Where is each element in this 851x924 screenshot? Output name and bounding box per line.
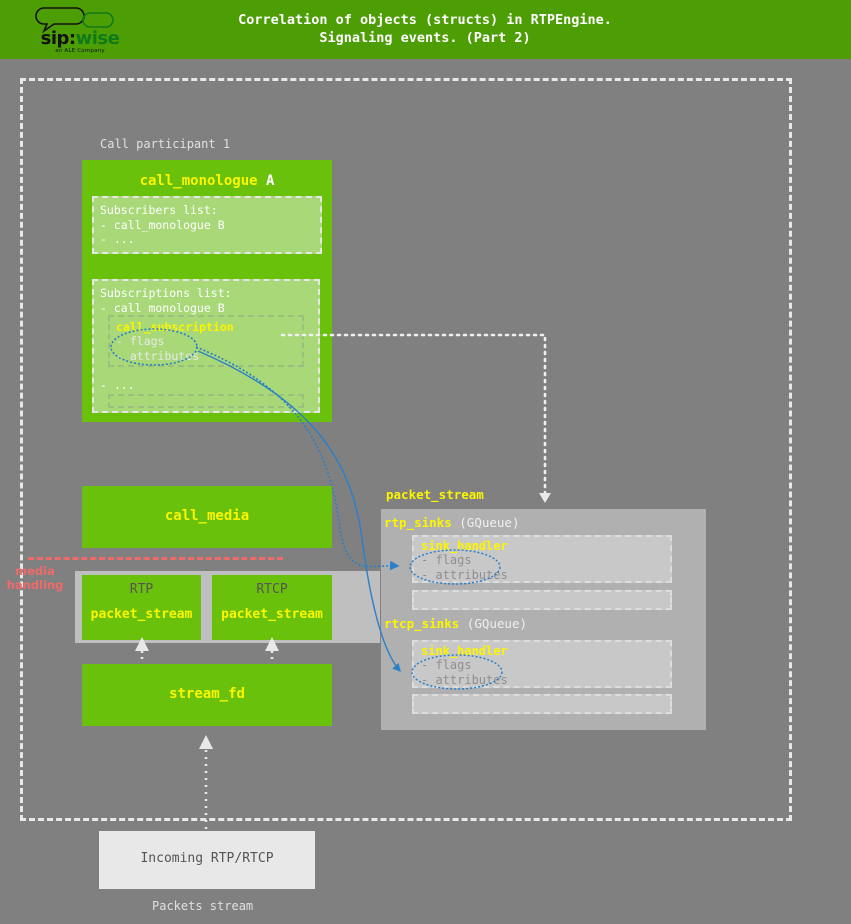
- call-subscription-title: call_subscription: [116, 320, 234, 334]
- rtp-sinks-label: rtp_sinks (GQueue): [384, 515, 519, 530]
- rtcp-struct-label: packet_stream: [212, 607, 332, 622]
- media-handling-label: media handling: [5, 564, 65, 592]
- call-media-title: call_media: [82, 508, 332, 524]
- rtcp-kind-label: RTCP: [212, 582, 332, 597]
- media-handling-divider: [28, 557, 283, 560]
- logo-sip: sip: [41, 28, 69, 49]
- rtp-sink-handler-card: sink_handler - flags - attributes: [412, 535, 672, 583]
- subscriptions-ellipsis: - ...: [100, 378, 135, 392]
- rtp-packet-stream-box: RTP packet_stream: [82, 575, 201, 640]
- stream-fd-title: stream_fd: [82, 686, 332, 702]
- logo-wordmark: sip:wise: [30, 30, 130, 48]
- incoming-rtp-rtcp-box: Incoming RTP/RTCP: [99, 831, 315, 889]
- call-monologue-a-suffix: A: [258, 173, 275, 189]
- rtp-sinks-name: rtp_sinks: [384, 515, 452, 530]
- rtcp-sink-handler-title: sink_handler: [421, 644, 508, 658]
- logo-tagline: an ALE Company: [30, 48, 130, 54]
- call-monologue-a-struct: call_monologue: [140, 173, 258, 189]
- subscribers-list-text: Subscribers list: - call_monologue B - .…: [100, 203, 225, 247]
- page-title: Correlation of objects (structs) in RTPE…: [180, 11, 670, 47]
- packet-stream-panel: rtp_sinks (GQueue) sink_handler - flags …: [381, 509, 706, 730]
- subscriptions-list-text: Subscriptions list: - call monologue B: [100, 286, 232, 315]
- packets-stream-label: Packets stream: [152, 899, 253, 913]
- stream-fd-box: stream_fd: [82, 664, 332, 726]
- logo-colon: :: [69, 28, 76, 49]
- title-line-2: Signaling events. (Part 2): [180, 29, 670, 47]
- sipwise-logo: sip:wise an ALE Company: [30, 4, 130, 56]
- logo-wise: wise: [76, 28, 120, 49]
- rtcp-sink-empty-slot: [412, 694, 672, 714]
- incoming-rtp-rtcp-label: Incoming RTP/RTCP: [99, 851, 315, 866]
- subscriptions-list-box: Subscriptions list: - call monologue B c…: [92, 279, 320, 413]
- page-header: sip:wise an ALE Company Correlation of o…: [0, 0, 851, 59]
- rtp-kind-label: RTP: [82, 582, 201, 597]
- rtcp-sinks-type: (GQueue): [467, 616, 527, 631]
- rtp-sink-handler-fields: - flags - attributes: [421, 553, 508, 583]
- call-participant-label: Call participant 1: [100, 137, 230, 151]
- rtcp-sinks-name: rtcp_sinks: [384, 616, 459, 631]
- rtp-sink-handler-title: sink_handler: [421, 539, 508, 553]
- call-subscription-box: call_subscription - flags - attributes: [108, 315, 304, 367]
- rtcp-packet-stream-box: RTCP packet_stream: [212, 575, 332, 640]
- rtcp-sinks-label: rtcp_sinks (GQueue): [384, 616, 527, 631]
- diagram-canvas: Call participant 1 call_monologue A Subs…: [0, 59, 851, 924]
- rtcp-sink-handler-card: sink_handler - flags - attributes: [412, 640, 672, 688]
- call-monologue-a-box: call_monologue A Subscribers list: - cal…: [82, 160, 332, 422]
- call-subscription-fields: - flags - attributes: [116, 334, 199, 363]
- rtp-struct-label: packet_stream: [82, 607, 201, 622]
- call-monologue-a-title: call_monologue A: [82, 173, 332, 189]
- subscribers-list-box: Subscribers list: - call_monologue B - .…: [92, 196, 322, 254]
- call-media-box: call_media: [82, 486, 332, 548]
- rtp-sink-empty-slot: [412, 590, 672, 610]
- packet-stream-panel-label: packet_stream: [386, 487, 484, 502]
- title-line-1: Correlation of objects (structs) in RTPE…: [180, 11, 670, 29]
- subscription-placeholder-box: [108, 394, 304, 408]
- rtcp-sink-handler-fields: - flags - attributes: [421, 658, 508, 688]
- rtp-sinks-type: (GQueue): [459, 515, 519, 530]
